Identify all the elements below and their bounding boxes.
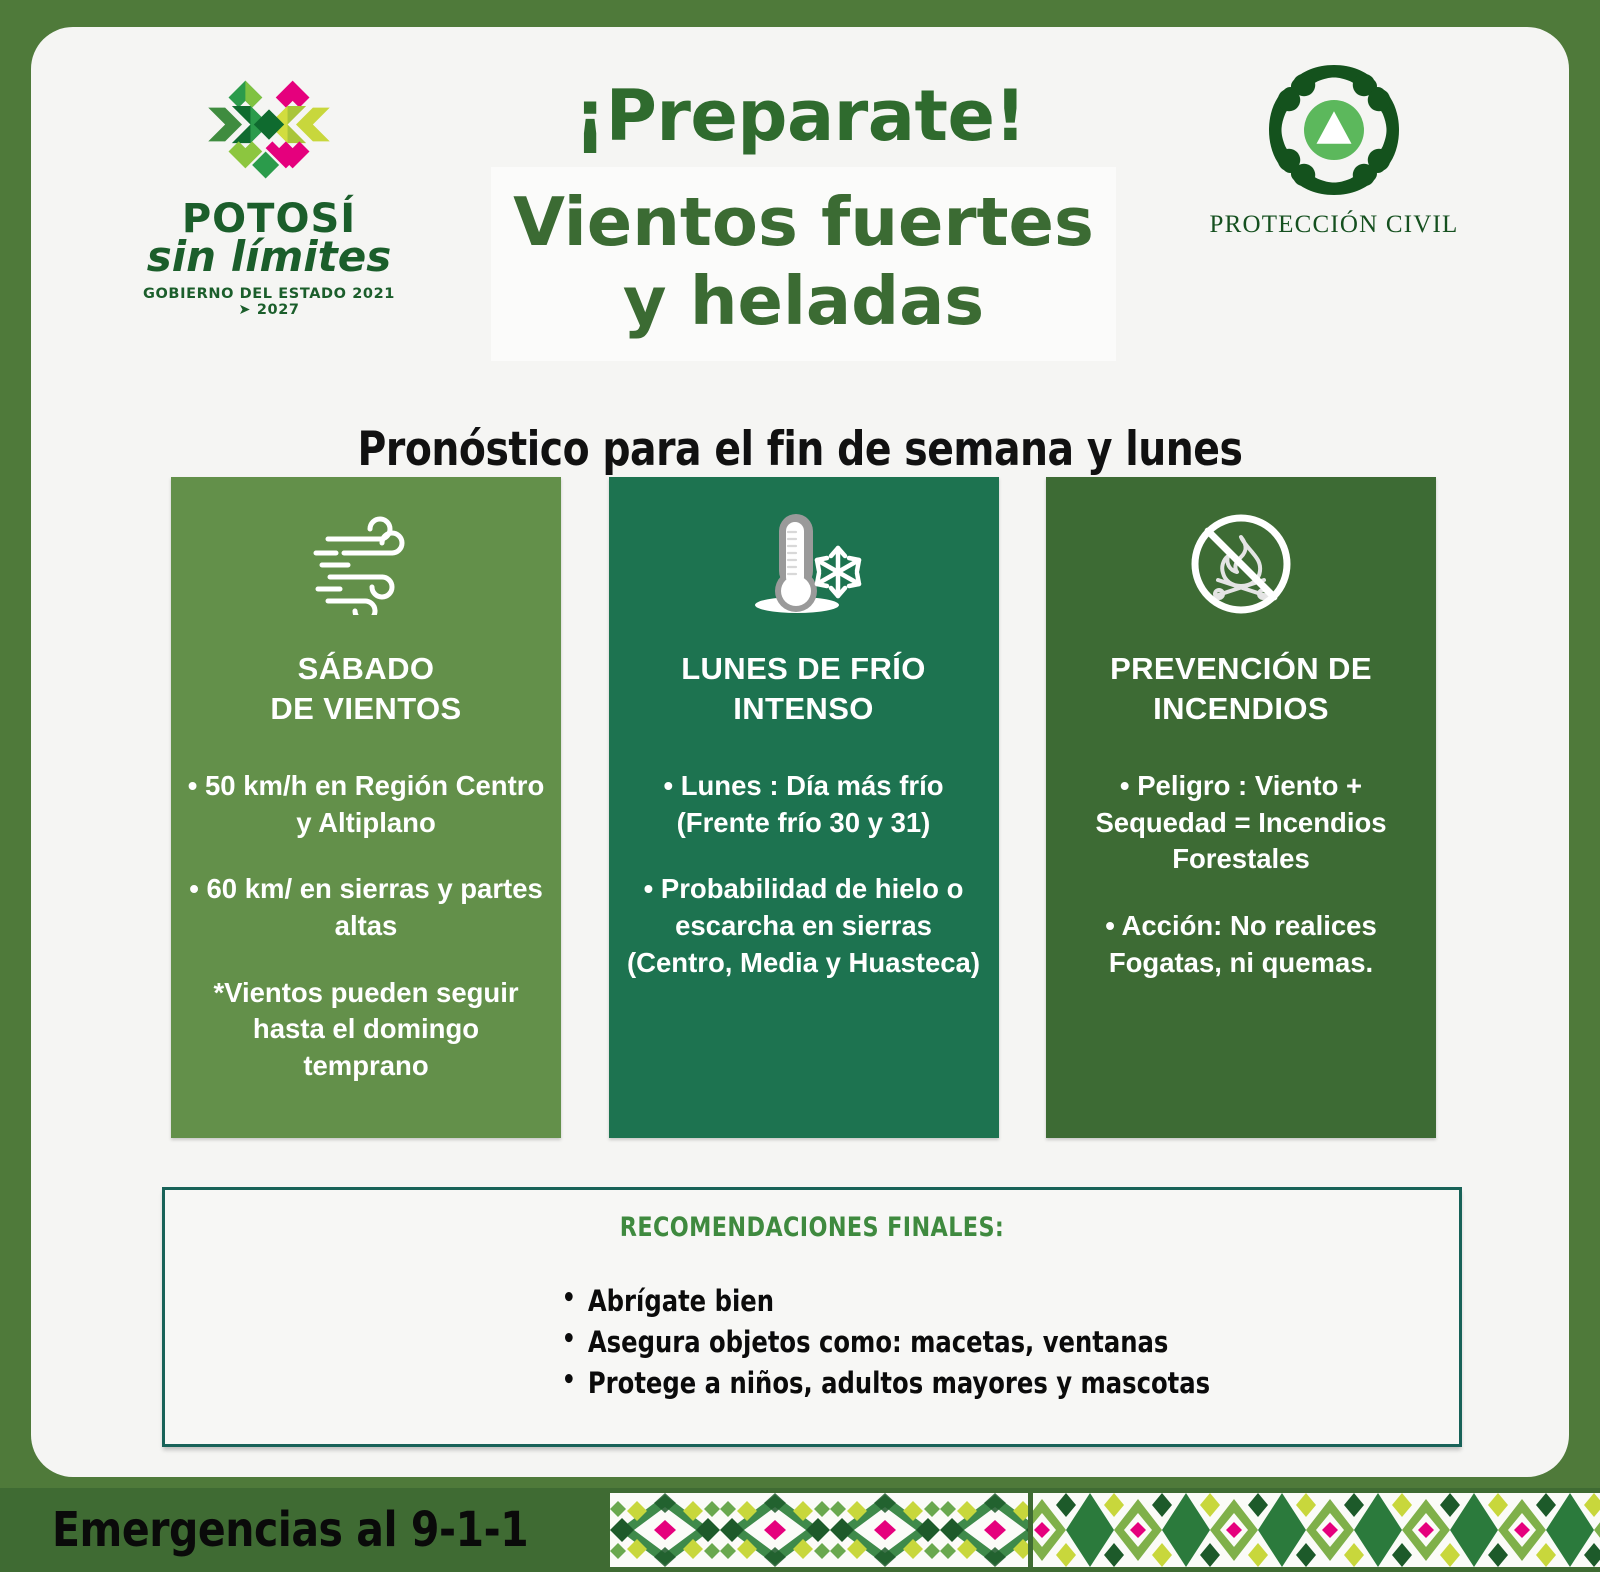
recommendation-item: Protege a niños, adultos mayores y masco… [560, 1363, 1396, 1404]
card-note: *Vientos pueden seguir hasta el domingo … [187, 975, 545, 1085]
card-title: PREVENCIÓN DE INCENDIOS [1062, 649, 1420, 728]
card-title-line2: DE VIENTOS [187, 689, 545, 729]
card-title-line1: SÁBADO [187, 649, 545, 689]
card-title: SÁBADO DE VIENTOS [187, 649, 545, 728]
title-highlight-box: Vientos fuertes y heladas [491, 167, 1116, 361]
recommendations-list: Abrígate bien Asegura objetos como: mace… [560, 1281, 1459, 1405]
card-sabado-de-vientos: SÁBADO DE VIENTOS • 50 km/h en Región Ce… [171, 477, 561, 1138]
card-bullet: • 50 km/h en Región Centro y Altiplano [187, 768, 545, 841]
page-title-line2: y heladas [491, 262, 1116, 341]
card-title-line2: INTENSO [625, 689, 983, 729]
card-bullet: • Lunes : Día más frío (Frente frío 30 y… [625, 768, 983, 841]
proteccion-civil-emblem-icon [1259, 55, 1409, 205]
proteccion-civil-label: PROTECCIÓN CIVIL [1189, 211, 1479, 239]
wind-icon [187, 503, 545, 623]
thermometer-snowflake-icon [625, 503, 983, 623]
decorative-pattern-band [610, 1488, 1600, 1572]
footer-emergency-block: Emergencias al 9-1-1 [0, 1488, 610, 1572]
card-bullet: • Acción: No realices Fogatas, ni quemas… [1062, 908, 1420, 981]
card-title-line2: INCENDIOS [1062, 689, 1420, 729]
card-title-line1: PREVENCIÓN DE [1062, 649, 1420, 689]
card-bullet: • Probabilidad de hielo o escarcha en si… [625, 871, 983, 981]
poster-card: POTOSÍ sin límites GOBIERNO DEL ESTADO 2… [31, 27, 1569, 1477]
emergency-number-text: Emergencias al 9-1-1 [52, 1502, 528, 1558]
recommendation-item: Abrígate bien [560, 1281, 1396, 1322]
card-bullet-list: • 50 km/h en Región Centro y Altiplano •… [187, 768, 545, 1084]
card-lunes-de-frio-intenso: LUNES DE FRÍO INTENSO • Lunes : Día más … [609, 477, 999, 1138]
recommendations-title: RECOMENDACIONES FINALES: [217, 1212, 1407, 1243]
card-bullet-list: • Peligro : Viento + Sequedad = Incendio… [1062, 768, 1420, 981]
card-title: LUNES DE FRÍO INTENSO [625, 649, 983, 728]
potosi-tagline: sin límites [134, 236, 404, 279]
card-bullet: • Peligro : Viento + Sequedad = Incendio… [1062, 768, 1420, 878]
footer-bar: Emergencias al 9-1-1 [0, 1488, 1600, 1572]
card-bullet: • 60 km/ en sierras y partes altas [187, 871, 545, 944]
page-title-line1: Vientos fuertes [491, 183, 1116, 262]
page-subtitle: Pronóstico para el fin de semana y lunes [85, 422, 1515, 477]
card-prevencion-de-incendios: PREVENCIÓN DE INCENDIOS • Peligro : Vien… [1046, 477, 1436, 1138]
potosi-government-line: GOBIERNO DEL ESTADO 2021 ➤ 2027 [134, 286, 404, 318]
recommendation-item: Asegura objetos como: macetas, ventanas [560, 1322, 1396, 1363]
proteccion-civil-logo: PROTECCIÓN CIVIL [1189, 55, 1479, 239]
header-region: POTOSÍ sin límites GOBIERNO DEL ESTADO 2… [31, 27, 1569, 417]
card-title-line1: LUNES DE FRÍO [625, 649, 983, 689]
recommendations-box: RECOMENDACIONES FINALES: Abrígate bien A… [162, 1187, 1462, 1447]
forecast-cards: SÁBADO DE VIENTOS • 50 km/h en Región Ce… [171, 477, 1436, 1138]
card-bullet-list: • Lunes : Día más frío (Frente frío 30 y… [625, 768, 983, 981]
no-campfire-icon [1062, 503, 1420, 623]
